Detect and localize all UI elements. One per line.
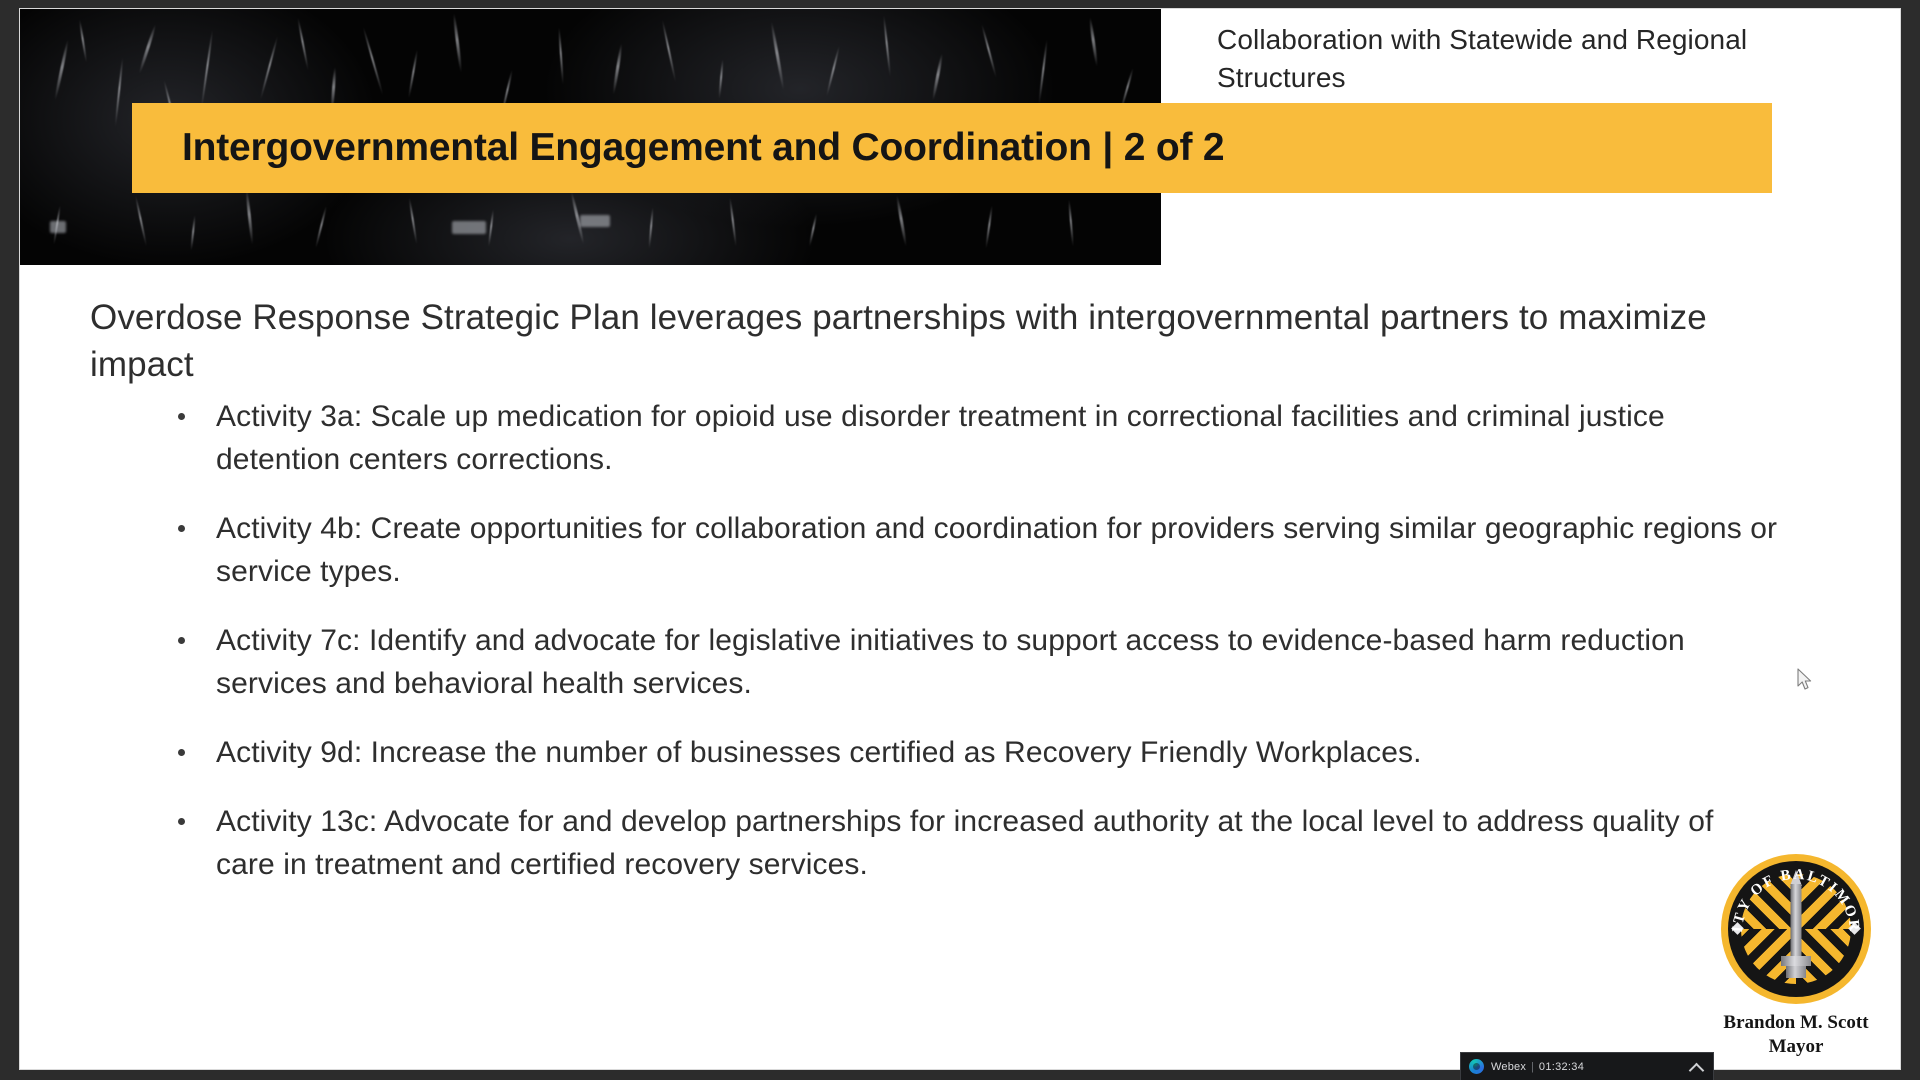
- page-title: Intergovernmental Engagement and Coordin…: [132, 126, 1224, 170]
- list-item: Activity 4b: Create opportunities for co…: [168, 507, 1778, 593]
- webex-logo-icon: [1469, 1059, 1484, 1074]
- webex-meeting-timer: 01:32:34: [1539, 1061, 1584, 1073]
- list-item-text: Activity 9d: Increase the number of busi…: [216, 736, 1422, 769]
- webex-app-label: Webex: [1491, 1061, 1526, 1073]
- webex-meeting-bar[interactable]: Webex | 01:32:34: [1460, 1052, 1714, 1080]
- bullet-list: Activity 3a: Scale up medication for opi…: [168, 395, 1778, 912]
- intro-paragraph: Overdose Response Strategic Plan leverag…: [90, 294, 1750, 388]
- list-item-text: Activity 4b: Create opportunities for co…: [216, 512, 1777, 588]
- list-item: Activity 13c: Advocate for and develop p…: [168, 800, 1778, 886]
- webex-separator: |: [1531, 1061, 1534, 1073]
- washington-monument-icon: [1783, 870, 1809, 982]
- chevron-up-icon[interactable]: [1689, 1059, 1705, 1075]
- bullet-dot-icon: [178, 413, 185, 420]
- bullet-dot-icon: [178, 749, 185, 756]
- bullet-dot-icon: [178, 637, 185, 644]
- mayor-name: Brandon M. Scott: [1710, 1011, 1882, 1035]
- city-seal-block: CITY OF BALTIMORE Brandon M. Scott Mayor: [1710, 854, 1882, 1058]
- mayor-role: Mayor: [1710, 1035, 1882, 1058]
- list-item-text: Activity 3a: Scale up medication for opi…: [216, 400, 1665, 476]
- list-item-text: Activity 7c: Identify and advocate for l…: [216, 624, 1685, 700]
- list-item: Activity 7c: Identify and advocate for l…: [168, 619, 1778, 705]
- bullet-dot-icon: [178, 818, 185, 825]
- slide-title-bar: Intergovernmental Engagement and Coordin…: [132, 103, 1772, 193]
- list-item: Activity 3a: Scale up medication for opi…: [168, 395, 1778, 481]
- slide-kicker: Collaboration with Statewide and Regiona…: [1217, 21, 1827, 97]
- list-item: Activity 9d: Increase the number of busi…: [168, 731, 1778, 774]
- presentation-slide: Collaboration with Statewide and Regiona…: [19, 8, 1901, 1070]
- shared-screen: Collaboration with Statewide and Regiona…: [0, 0, 1920, 1080]
- list-item-text: Activity 13c: Advocate for and develop p…: [216, 805, 1713, 881]
- city-of-baltimore-seal-icon: CITY OF BALTIMORE: [1721, 854, 1871, 1004]
- bullet-dot-icon: [178, 525, 185, 532]
